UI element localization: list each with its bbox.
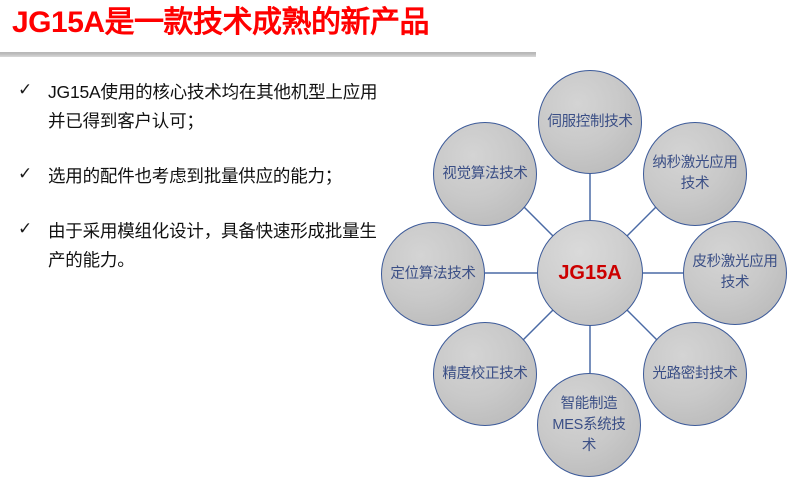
list-item: ✓ 选用的配件也考虑到批量供应的能力；: [10, 162, 380, 191]
slide-canvas: JG15A是一款技术成熟的新产品 ✓ JG15A使用的核心技术均在其他机型上应用…: [0, 0, 800, 477]
check-icon: ✓: [18, 218, 32, 240]
diagram-node-accuracy[interactable]: 精度校正技术: [433, 322, 537, 426]
list-item-text: 选用的配件也考虑到批量供应的能力；: [48, 166, 342, 186]
list-item: ✓ JG15A使用的核心技术均在其他机型上应用并已得到客户认可；: [10, 78, 380, 136]
diagram-node-label: 光路密封技术: [652, 364, 738, 385]
diagram-node-label: 纳秒激光应用技术: [652, 153, 738, 195]
diagram-node-label: 精度校正技术: [442, 364, 528, 385]
diagram-node-ns-laser[interactable]: 纳秒激光应用技术: [643, 122, 747, 226]
diagram-node-servo[interactable]: 伺服控制技术: [538, 70, 642, 174]
diagram-node-label: 伺服控制技术: [547, 112, 633, 133]
diagram-node-mes[interactable]: 智能制造MES系统技术: [537, 373, 641, 477]
list-item: ✓ 由于采用模组化设计，具备快速形成批量生产的能力。: [10, 217, 380, 275]
diagram-node-label: 定位算法技术: [390, 264, 476, 285]
diagram-node-label: 皮秒激光应用技术: [692, 252, 778, 294]
page-title: JG15A是一款技术成熟的新产品: [12, 3, 429, 43]
diagram-node-ps-laser[interactable]: 皮秒激光应用技术: [683, 221, 787, 325]
diagram-node-locate[interactable]: 定位算法技术: [381, 222, 485, 326]
check-icon: ✓: [18, 79, 32, 101]
diagram-node-label: 智能制造MES系统技术: [546, 394, 632, 457]
bullet-list: ✓ JG15A使用的核心技术均在其他机型上应用并已得到客户认可； ✓ 选用的配件…: [10, 78, 380, 301]
diagram-center-label: JG15A: [538, 263, 642, 284]
diagram-center-node[interactable]: JG15A: [537, 220, 643, 326]
diagram-node-label: 视觉算法技术: [442, 164, 528, 185]
diagram-node-vision[interactable]: 视觉算法技术: [433, 122, 537, 226]
list-item-text: 由于采用模组化设计，具备快速形成批量生产的能力。: [48, 221, 377, 270]
list-item-text: JG15A使用的核心技术均在其他机型上应用并已得到客户认可；: [48, 82, 377, 131]
technology-hub-diagram: JG15A 伺服控制技术 纳秒激光应用技术 皮秒激光应用技术 光路密封技术 智能…: [355, 48, 800, 477]
diagram-node-optical[interactable]: 光路密封技术: [643, 322, 747, 426]
check-icon: ✓: [18, 163, 32, 185]
